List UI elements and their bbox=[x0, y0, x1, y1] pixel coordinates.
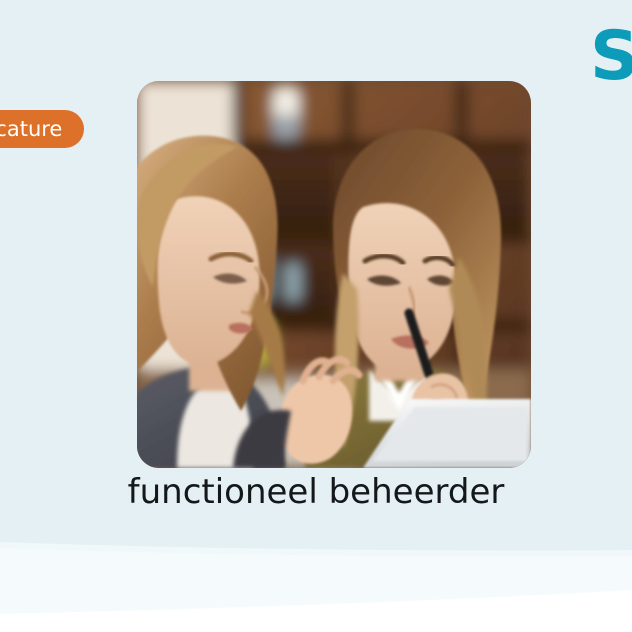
photo-caption: functioneel beheerder bbox=[0, 470, 632, 514]
category-badge[interactable]: vacature bbox=[0, 110, 84, 148]
office-consultation-photo bbox=[137, 81, 531, 468]
photo-card[interactable] bbox=[137, 81, 531, 468]
wave-decoration bbox=[0, 512, 632, 632]
brand-mark-letter: S bbox=[590, 23, 632, 91]
promo-card-stage: S vacature bbox=[0, 0, 632, 632]
